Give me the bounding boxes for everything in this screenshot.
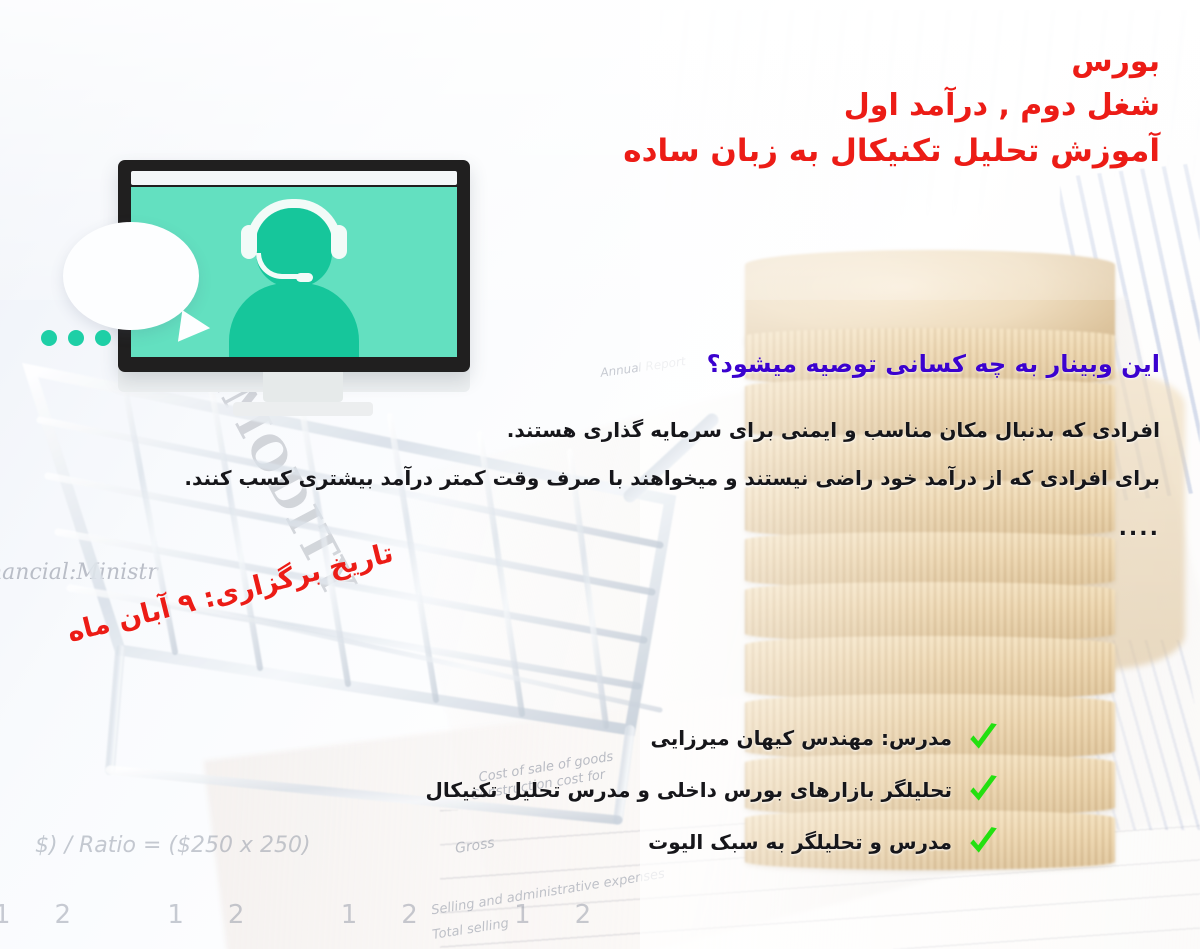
avatar-body [229, 283, 359, 357]
presenter-bullet-list: مدرس: مهندس کیهان میرزایی تحلیلگر بازاره… [340, 712, 1000, 868]
headline-line-2: شغل دوم , درآمد اول [360, 84, 1160, 128]
headset-band-icon [246, 199, 342, 245]
list-item-label: تحلیلگر بازارهای بورس داخلی و مدرس تحلیل… [426, 778, 952, 802]
headset-mic-tip-icon [296, 273, 313, 282]
headset-earcup-right-icon [331, 225, 347, 259]
body-paragraph-ellipsis: .... [160, 516, 1160, 541]
body-paragraph-1: افرادی که بدنبال مکان مناسب و ایمنی برای… [160, 418, 1160, 442]
check-icon [966, 825, 1000, 859]
list-item-label: مدرس: مهندس کیهان میرزایی [650, 726, 952, 750]
headline-line-3: آموزش تحلیل تکنیکال به زبان ساده [360, 129, 1160, 175]
headline-block: بورس شغل دوم , درآمد اول آموزش تحلیل تکن… [360, 40, 1160, 175]
check-icon [966, 773, 1000, 807]
speech-bubble-dot [41, 330, 57, 346]
speech-bubble-icon [63, 222, 199, 330]
list-item: تحلیلگر بازارهای بورس داخلی و مدرس تحلیل… [340, 764, 1000, 816]
headset-mic-icon [256, 253, 298, 279]
headset-earcup-left-icon [241, 225, 257, 259]
watermark-ledger-numbers: 12 12 12 12 [0, 900, 635, 930]
speech-bubble-dot [95, 330, 111, 346]
coin-rim [745, 636, 1115, 700]
list-item-label: مدرس و تحلیلگر به سبک الیوت [648, 830, 952, 854]
webinar-monitor-illustration [118, 160, 488, 430]
body-paragraph-2: برای افرادی که از درآمد خود راضی نیستند … [160, 466, 1160, 490]
speech-bubble-dot [68, 330, 84, 346]
monitor-neck [263, 372, 343, 402]
section-question-heading: این وبینار به چه کسانی توصیه میشود؟ [540, 350, 1160, 378]
monitor-base [233, 402, 373, 416]
headline-line-1: بورس [360, 40, 1160, 84]
list-item: مدرس و تحلیلگر به سبک الیوت [340, 816, 1000, 868]
poster-canvas: COMMODITY nancial:Ministr Ratio = ($250 … [0, 0, 1200, 949]
speech-bubble-tail-icon [178, 310, 212, 346]
list-item: مدرس: مهندس کیهان میرزایی [340, 712, 1000, 764]
check-icon [966, 721, 1000, 755]
coin-rim [745, 582, 1115, 642]
